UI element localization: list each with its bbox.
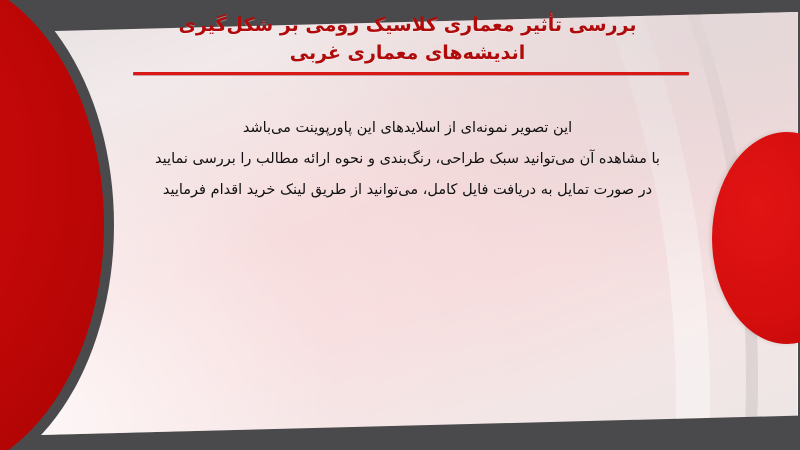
background-arc: [2, 12, 798, 436]
background-arc: [2, 12, 798, 436]
background-arc: [2, 12, 798, 436]
background-arc: [2, 12, 798, 436]
body-line: در صورت تمایل به دریافت فایل کامل، می‌تو…: [120, 180, 695, 202]
body-line: این تصویر نمونه‌ای از اسلایدهای این پاور…: [120, 118, 695, 140]
slide-title: بررسی تأثیر معماری کلاسیک رومی بر شکل‌گی…: [120, 12, 695, 67]
background-arc: [2, 12, 798, 436]
slide-body: این تصویر نمونه‌ای از اسلایدهای این پاور…: [120, 118, 695, 201]
background-arc: [2, 12, 758, 436]
background-arc: [2, 12, 798, 436]
title-divider-rule: [133, 72, 689, 75]
background-arc: [2, 12, 798, 436]
body-line: با مشاهده آن می‌توانید سبک طراحی، رنگ‌بن…: [120, 149, 695, 171]
background-arc: [2, 12, 798, 436]
background-rays-texture: [2, 12, 798, 436]
background-arc: [2, 12, 798, 436]
slide-title-text: بررسی تأثیر معماری کلاسیک رومی بر شکل‌گی…: [120, 12, 695, 67]
slide-content-panel: [2, 12, 798, 436]
presentation-slide: بررسی تأثیر معماری کلاسیک رومی بر شکل‌گی…: [0, 0, 800, 450]
